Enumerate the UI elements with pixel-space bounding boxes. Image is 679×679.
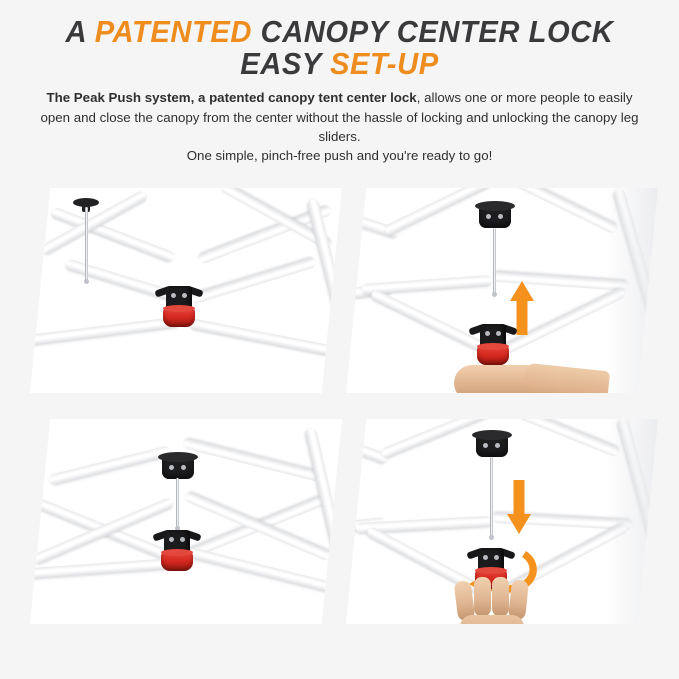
canopy-top-hub <box>476 435 508 457</box>
frame-tube <box>189 318 338 357</box>
lock-bolt <box>485 331 490 336</box>
push-down-arrow-icon <box>506 479 532 535</box>
hub-bolt <box>486 214 491 219</box>
photo-edge-shade <box>606 188 658 393</box>
panel-canopy-closed-center-lock <box>30 188 342 393</box>
frame-tube <box>49 445 172 486</box>
hub-bolt <box>483 443 488 448</box>
center-pole <box>493 228 496 294</box>
panel-hand-pushing-up-to-open <box>346 188 658 393</box>
canopy-top-hub <box>479 206 511 228</box>
lock-bolt <box>494 555 499 560</box>
hand-finger <box>492 577 509 617</box>
lock-bolt <box>171 293 176 298</box>
hub-bolt <box>495 443 500 448</box>
center-lock-mechanism <box>156 283 202 327</box>
body-copy-closing-line: One simple, pinch-free push and you're r… <box>40 146 640 165</box>
frame-leg-tube <box>304 428 342 624</box>
headline-highlight-patented: PATENTED <box>95 14 252 49</box>
headline-line-1: A PATENTED CANOPY CENTER LOCK <box>20 16 658 48</box>
canopy-frame-scene <box>30 419 342 624</box>
frame-tube <box>384 188 493 236</box>
lock-bolt <box>483 555 488 560</box>
frame-tube <box>495 419 620 458</box>
frame-tube <box>189 256 317 305</box>
lock-bolt <box>182 293 187 298</box>
hand-forearm <box>522 363 610 393</box>
headline-line-1-suffix: CANOPY CENTER LOCK <box>252 14 614 49</box>
hub-bolt <box>169 465 174 470</box>
photo-grid <box>0 182 679 660</box>
hand-finger <box>474 577 491 617</box>
body-copy: The Peak Push system, a patented canopy … <box>40 88 640 166</box>
headline-line-2: EASY SET-UP <box>20 48 658 80</box>
lock-bolt <box>496 331 501 336</box>
center-pole <box>85 207 88 281</box>
red-push-knob <box>163 308 195 327</box>
red-push-knob <box>161 552 193 571</box>
center-pole <box>490 457 493 537</box>
body-copy-bold-lead: The Peak Push system, a patented canopy … <box>46 90 416 105</box>
headline-line-2-prefix: EASY <box>240 46 330 81</box>
panel-hands-twisting-down-to-close <box>346 419 658 624</box>
lock-bolt <box>169 537 174 542</box>
center-pole <box>176 478 179 528</box>
frame-leg-tube <box>306 199 342 393</box>
hand-knuckles <box>460 615 524 624</box>
frame-leg-tube <box>346 427 389 465</box>
hub-bolt <box>181 465 186 470</box>
frame-tube <box>502 188 618 234</box>
hub-bolt <box>498 214 503 219</box>
headline-block: A PATENTED CANOPY CENTER LOCK EASY SET-U… <box>0 0 679 79</box>
gripping-hands <box>450 577 570 624</box>
center-lock-mechanism <box>154 527 200 571</box>
canopy-frame-scene <box>30 188 342 393</box>
frame-tube <box>183 437 322 482</box>
lock-bolt <box>180 537 185 542</box>
photo-edge-shade <box>606 419 658 624</box>
open-hand <box>454 351 604 393</box>
headline-line-1-prefix: A <box>66 14 95 49</box>
headline-highlight-setup: SET-UP <box>330 46 439 81</box>
body-copy-paragraph: The Peak Push system, a patented canopy … <box>40 90 638 144</box>
panel-canopy-locked-open <box>30 419 342 624</box>
canopy-top-hub <box>162 457 194 479</box>
canopy-top-hub <box>73 198 99 207</box>
